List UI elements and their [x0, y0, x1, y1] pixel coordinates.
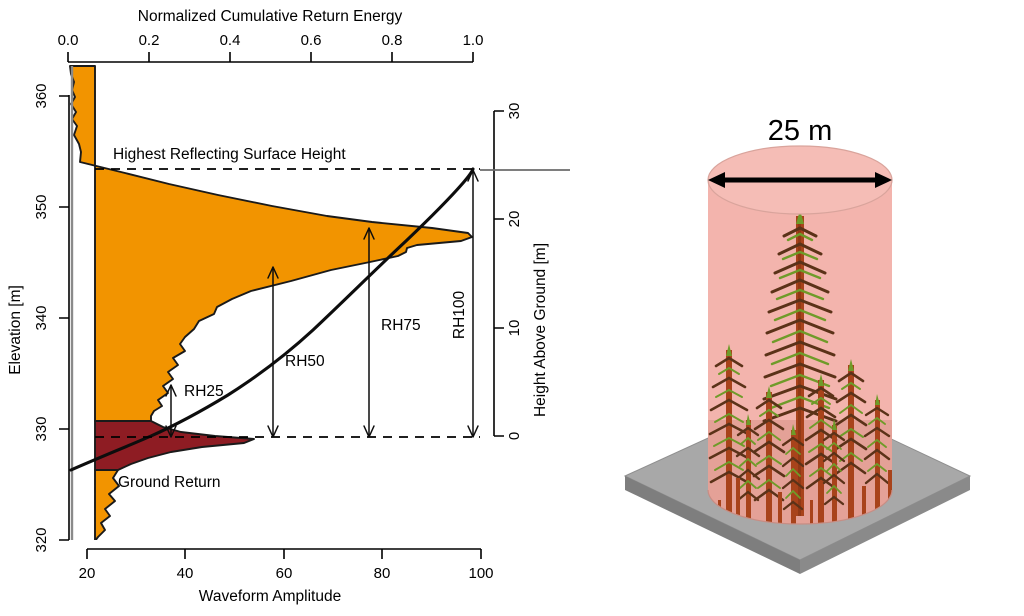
top-axis-ticks — [68, 52, 473, 62]
left-tick-340: 340 — [33, 305, 50, 330]
right-axis-title: Height Above Ground [m] — [532, 243, 549, 417]
right-tick-20: 20 — [506, 211, 523, 228]
bottom-tick-100: 100 — [468, 565, 493, 582]
top-tick-0: 0.0 — [58, 32, 79, 49]
rh100-arrow — [468, 170, 478, 437]
top-tick-2: 0.4 — [220, 32, 241, 49]
plot3d-svg: 25 m — [570, 0, 1024, 616]
left-axis-ticks — [59, 96, 69, 540]
left-tick-320: 320 — [33, 527, 50, 552]
below-ground-tail-area — [95, 470, 119, 541]
left-axis-title: Elevation [m] — [7, 285, 24, 375]
diameter-label: 25 m — [768, 115, 832, 147]
highest-reflecting-surface-label: Highest Reflecting Surface Height — [113, 146, 346, 163]
rh75-label: RH75 — [381, 317, 421, 334]
left-axis: 360 350 340 330 320 Elevation [m] — [7, 83, 69, 552]
left-tick-330: 330 — [33, 416, 50, 441]
bottom-axis: 20 40 60 80 100 Waveform Amplitude — [79, 549, 494, 605]
waveform-traces — [70, 66, 473, 541]
top-tick-5: 1.0 — [463, 32, 484, 49]
rh25-label: RH25 — [184, 383, 224, 400]
top-tick-1: 0.2 — [139, 32, 160, 49]
right-axis-ticks — [494, 111, 504, 436]
left-tick-360: 360 — [33, 83, 50, 108]
forest-plot-3d-panel: 25 m — [570, 0, 1024, 616]
top-axis: 0.0 0.2 0.4 0.6 0.8 1.0 Normalized Cumul… — [58, 8, 484, 62]
top-tick-3: 0.6 — [301, 32, 322, 49]
left-tick-350: 350 — [33, 194, 50, 219]
lidar-waveform-panel: 0.0 0.2 0.4 0.6 0.8 1.0 Normalized Cumul… — [0, 0, 570, 616]
top-axis-title: Normalized Cumulative Return Energy — [138, 8, 403, 25]
rh50-arrow — [268, 267, 278, 437]
rh50-label: RH50 — [285, 353, 325, 370]
right-tick-10: 10 — [506, 320, 523, 337]
waveform-svg: 0.0 0.2 0.4 0.6 0.8 1.0 Normalized Cumul… — [0, 0, 570, 616]
bottom-tick-60: 60 — [276, 565, 293, 582]
bottom-tick-40: 40 — [177, 565, 194, 582]
bottom-axis-ticks — [87, 549, 481, 559]
ground-return-label: Ground Return — [118, 474, 221, 491]
rh25-arrow — [166, 385, 176, 437]
rh100-label: RH100 — [451, 290, 468, 339]
bottom-axis-title: Waveform Amplitude — [199, 588, 341, 605]
right-tick-0: 0 — [506, 432, 523, 440]
right-tick-30: 30 — [506, 103, 523, 120]
canopy-return-area — [70, 66, 472, 421]
bottom-tick-80: 80 — [374, 565, 391, 582]
right-axis: 30 20 10 0 Height Above Ground [m] — [494, 103, 549, 441]
top-tick-4: 0.8 — [382, 32, 403, 49]
figure-root: 0.0 0.2 0.4 0.6 0.8 1.0 Normalized Cumul… — [0, 0, 1024, 616]
bottom-tick-20: 20 — [79, 565, 96, 582]
